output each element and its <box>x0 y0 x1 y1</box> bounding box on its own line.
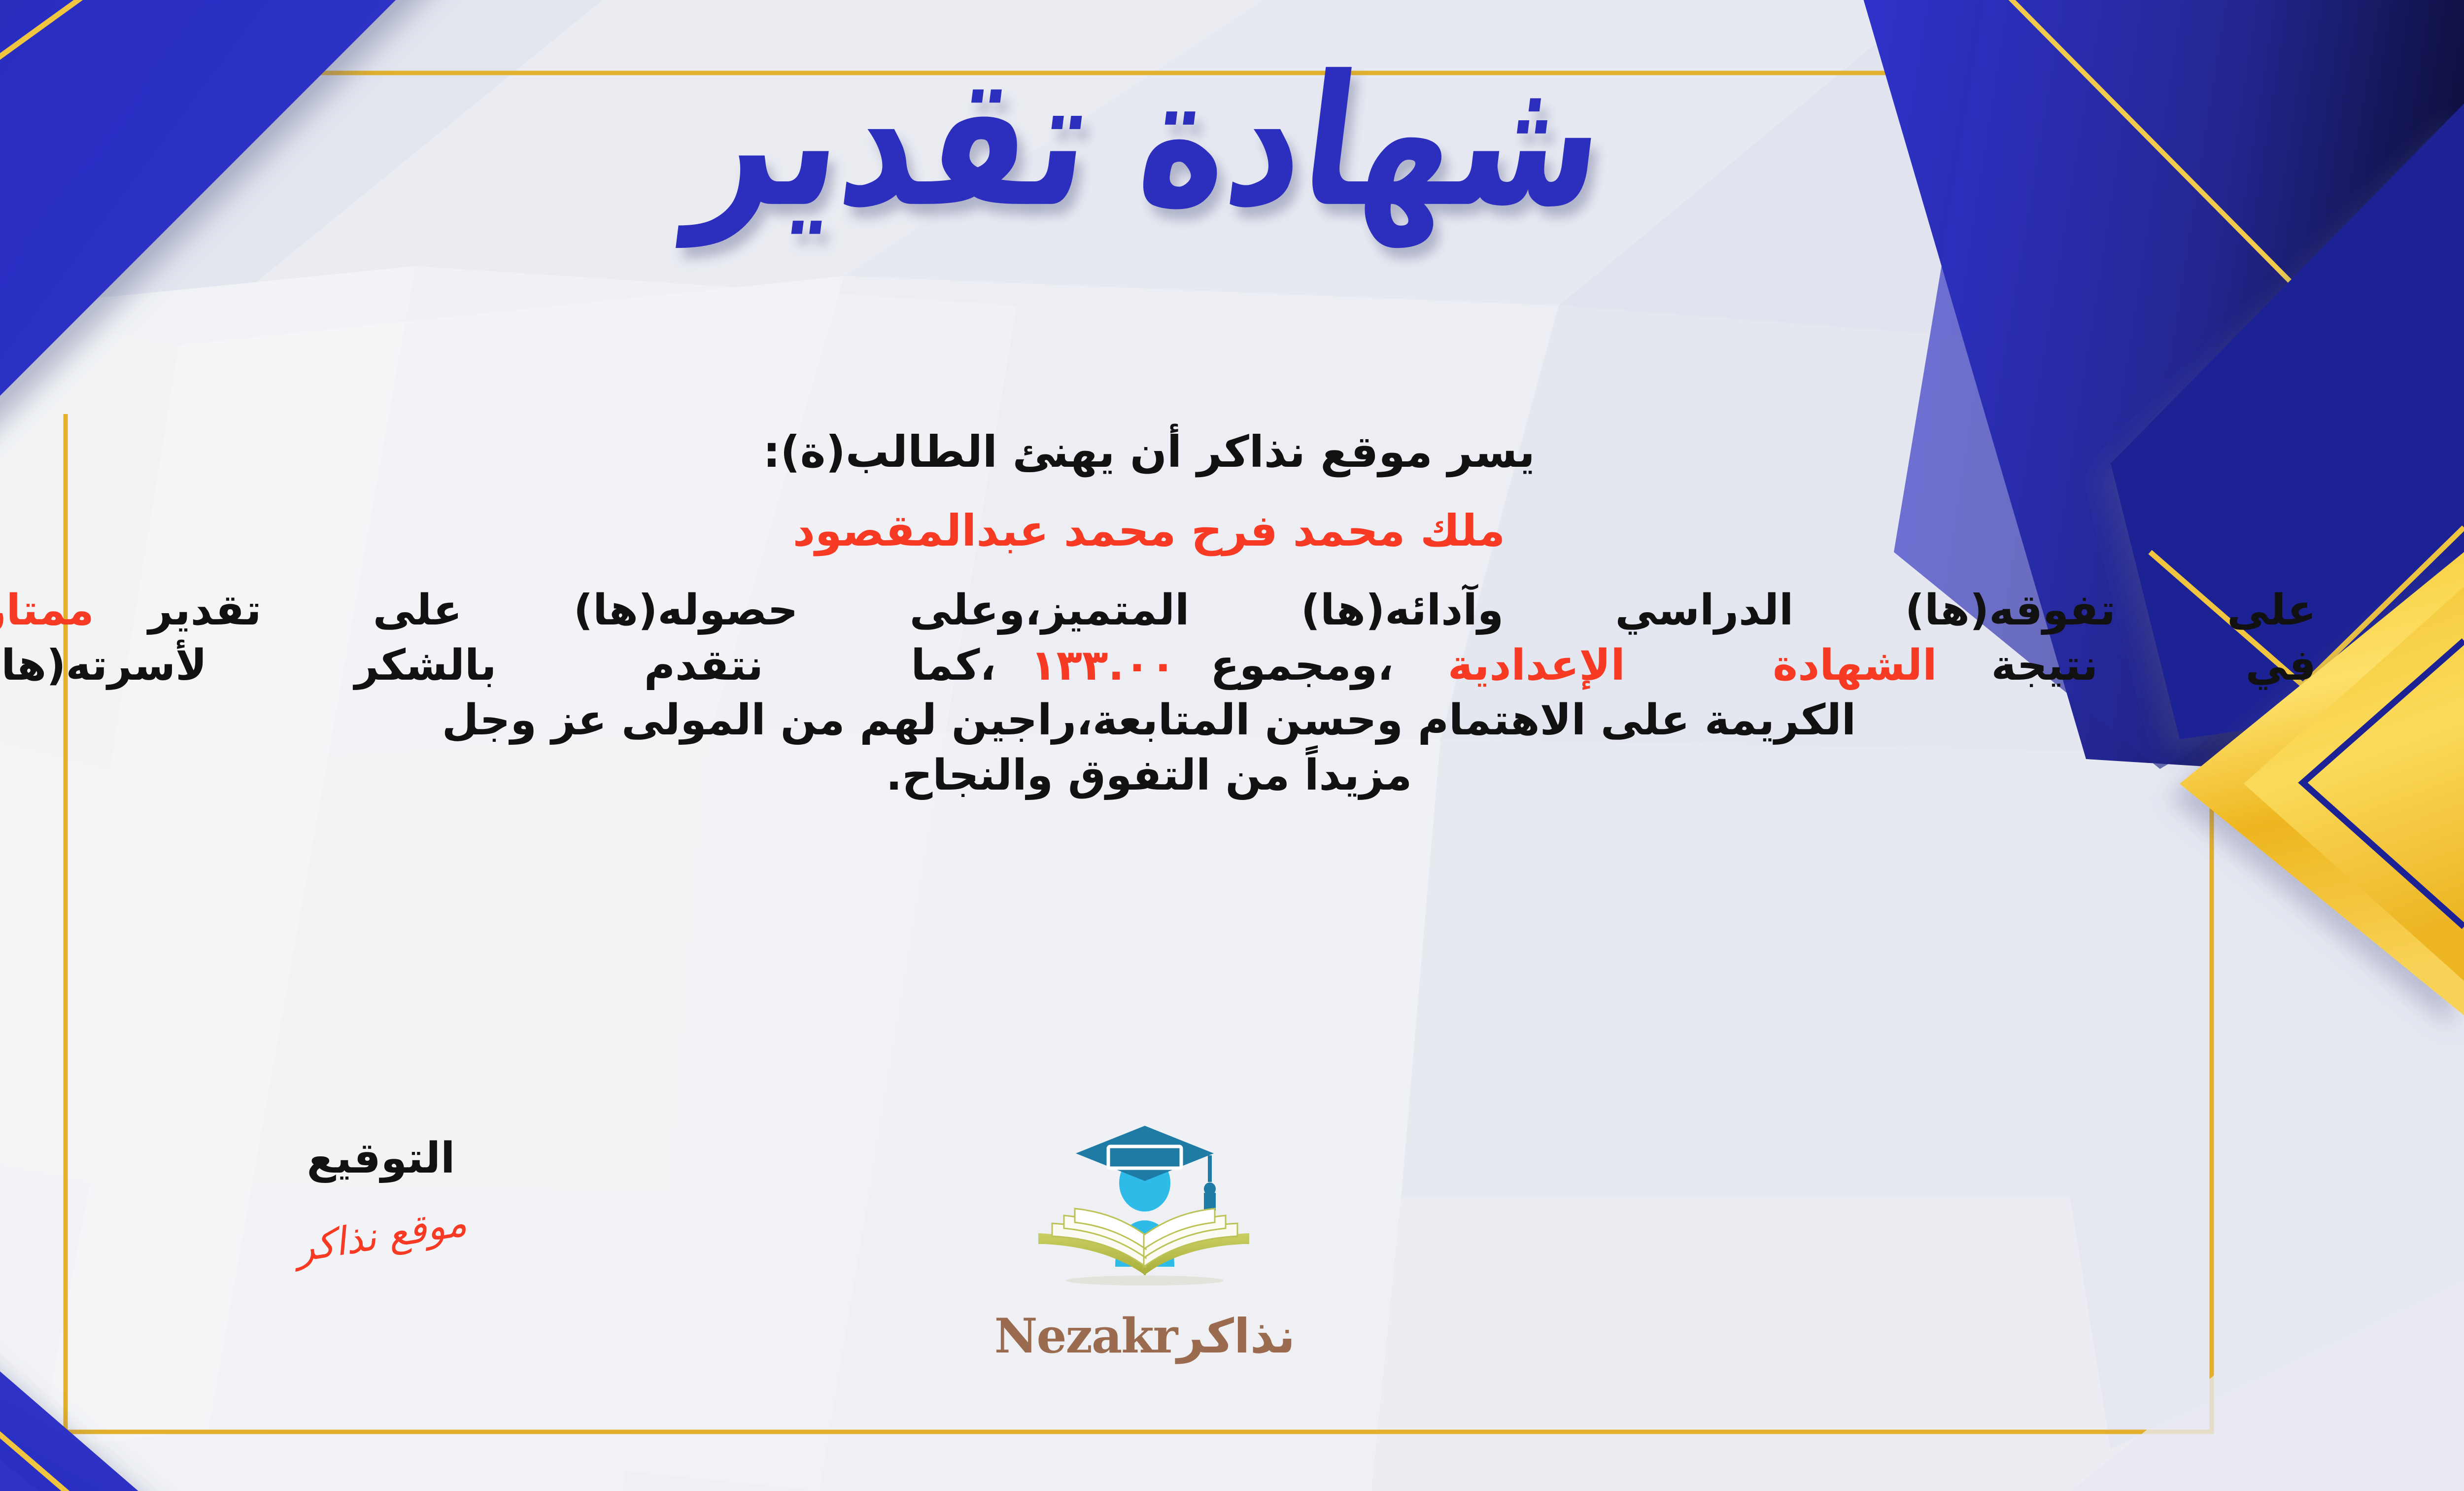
grade-value: ممتاز <box>0 586 94 635</box>
thanks-text: ،كما نتقدم بالشكر لأسرته(ها) <box>0 641 996 690</box>
exam-name-value: الشهادة الإعدادية <box>1448 641 1937 690</box>
exam-prefix-text: في نتيجة <box>1991 641 2316 690</box>
logo-wordmark: Nezakrنذاكر <box>933 1308 1357 1364</box>
achievement-line-4: مزيداً من التفوق والنجاح. <box>0 748 2316 803</box>
brand-logo: Nezakrنذاكر <box>933 1119 1357 1364</box>
total-prefix-text: ،ومجموع <box>1210 641 1394 690</box>
achievement-line-2: في نتيجةالشهادة الإعدادية،ومجموع١٣٣.٠٠،ك… <box>0 638 2316 693</box>
logo-arabic-text: نذاكر <box>1177 1309 1295 1364</box>
total-score-value: ١٣٣.٠٠ <box>1030 641 1176 690</box>
signature-handwriting: موقع نذاكر <box>292 1200 470 1271</box>
logo-latin-text: Nezakr <box>994 1308 1177 1364</box>
logo-graphic <box>1017 1119 1273 1311</box>
open-book-icon <box>1038 1209 1249 1285</box>
certificate-body: يسر موقع نذاكر أن يهنئ الطالب(ة): ملك مح… <box>0 424 2316 803</box>
achievement-line-3: الكريمة على الاهتمام وحسن المتابعة،راجين… <box>0 693 2316 748</box>
student-name: ملك محمد فرح محمد عبدالمقصود <box>0 503 2316 559</box>
signature-area: التوقيع موقع نذاكر <box>179 1134 583 1258</box>
signature-label: التوقيع <box>179 1134 583 1183</box>
certificate-page: شهادة تقدير يسر موقع نذاكر أن يهنئ الطال… <box>0 0 2464 1491</box>
certificate-footer: التوقيع موقع نذاكر <box>0 1119 2464 1434</box>
intro-line: يسر موقع نذاكر أن يهنئ الطالب(ة): <box>0 424 2316 480</box>
achievement-line-1: على تفوقه(ها) الدراسي وآدائه(ها) المتميز… <box>0 583 2316 638</box>
achievement-text-1: على تفوقه(ها) الدراسي وآدائه(ها) المتميز… <box>148 586 2316 635</box>
